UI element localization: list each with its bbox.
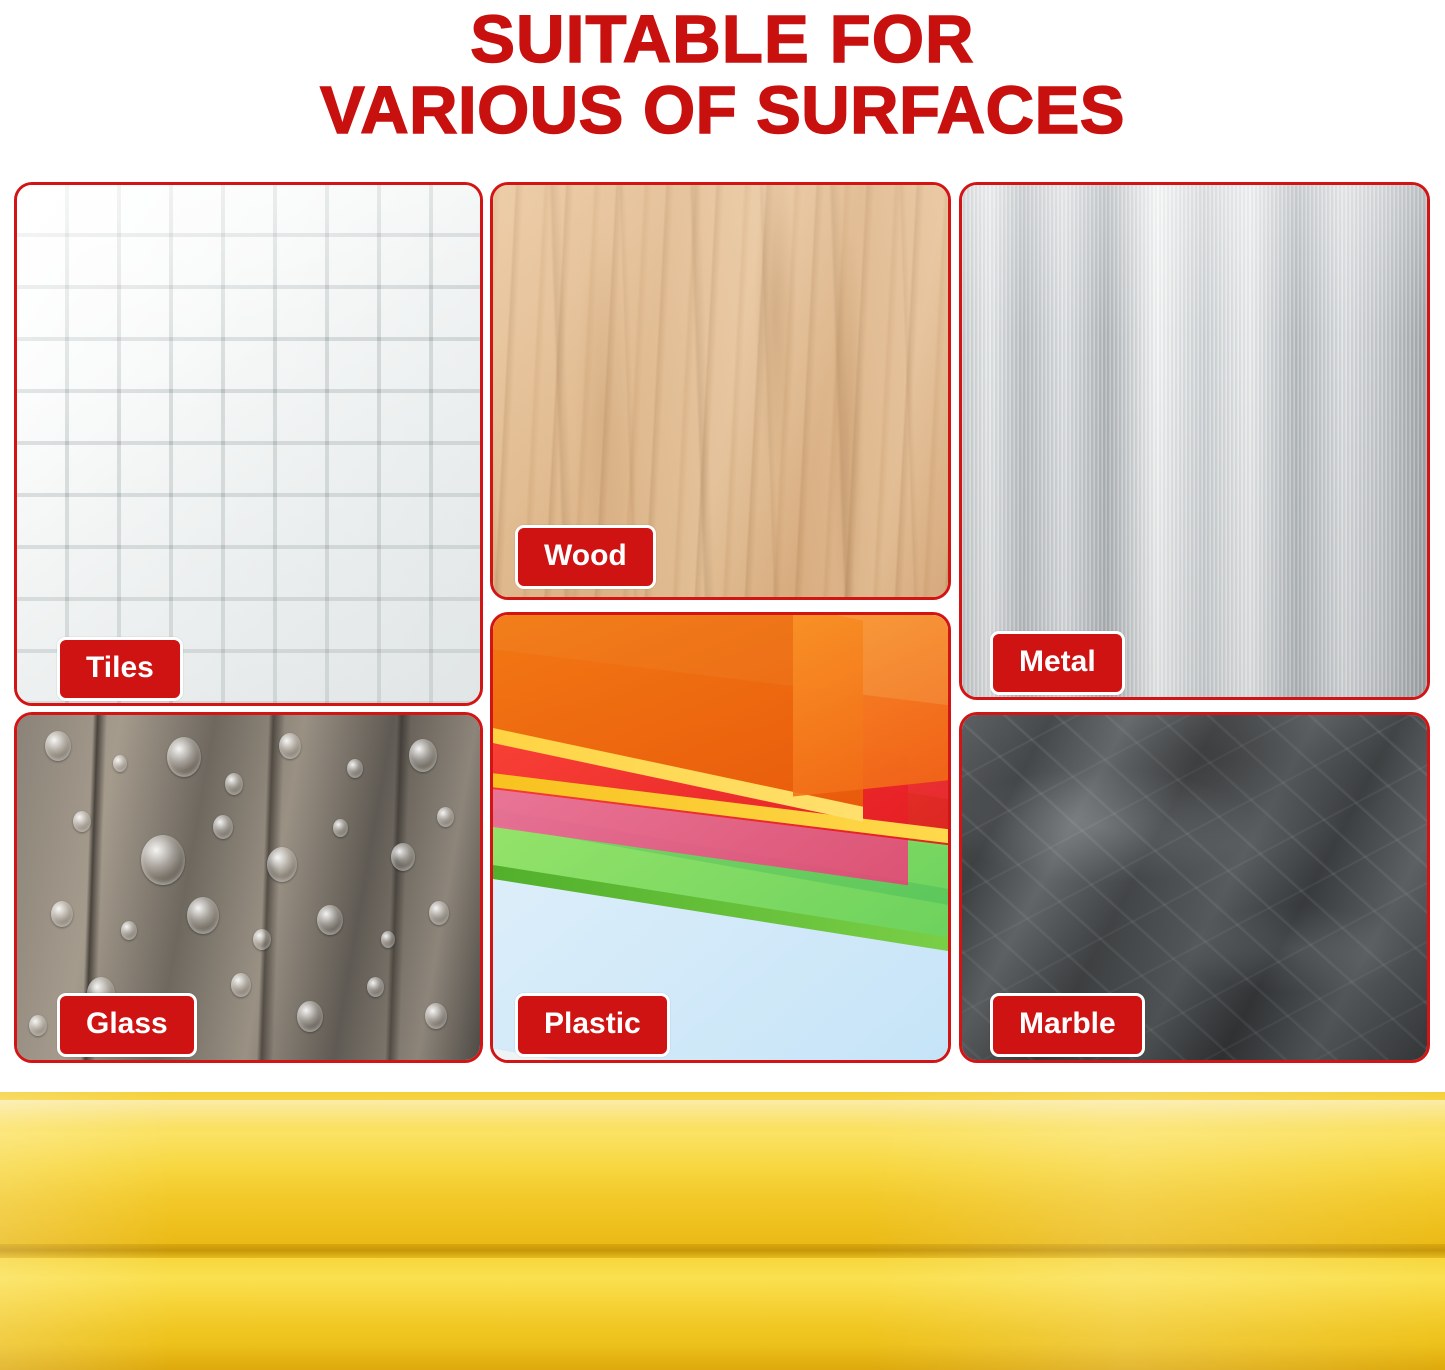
surface-card-marble: Marble: [959, 712, 1430, 1063]
blade-upper-face: [0, 1092, 1445, 1252]
blade-lower-face: [0, 1258, 1445, 1370]
product-blade-image: [0, 1092, 1445, 1370]
title-line-1: SUITABLE FOR: [0, 4, 1445, 75]
surface-label-tiles: Tiles: [57, 637, 183, 701]
title-line-2: VARIOUS OF SURFACES: [0, 75, 1445, 146]
metal-texture-image: [962, 185, 1427, 697]
surface-label-glass: Glass: [57, 993, 197, 1057]
page-title: SUITABLE FOR VARIOUS OF SURFACES: [0, 4, 1445, 146]
surface-card-tiles: Tiles: [14, 182, 483, 706]
surface-card-plastic: Plastic: [490, 612, 951, 1063]
surface-grid: Tiles Wood Metal: [0, 182, 1445, 1080]
surface-card-metal: Metal: [959, 182, 1430, 700]
surface-card-glass: Glass: [14, 712, 483, 1063]
surface-label-wood: Wood: [515, 525, 656, 589]
surface-label-marble: Marble: [990, 993, 1145, 1057]
surface-label-metal: Metal: [990, 631, 1125, 695]
blade-seam-line: [0, 1244, 1445, 1258]
tiles-texture-image: [17, 185, 480, 703]
surface-label-plastic: Plastic: [515, 993, 670, 1057]
surface-card-wood: Wood: [490, 182, 951, 600]
